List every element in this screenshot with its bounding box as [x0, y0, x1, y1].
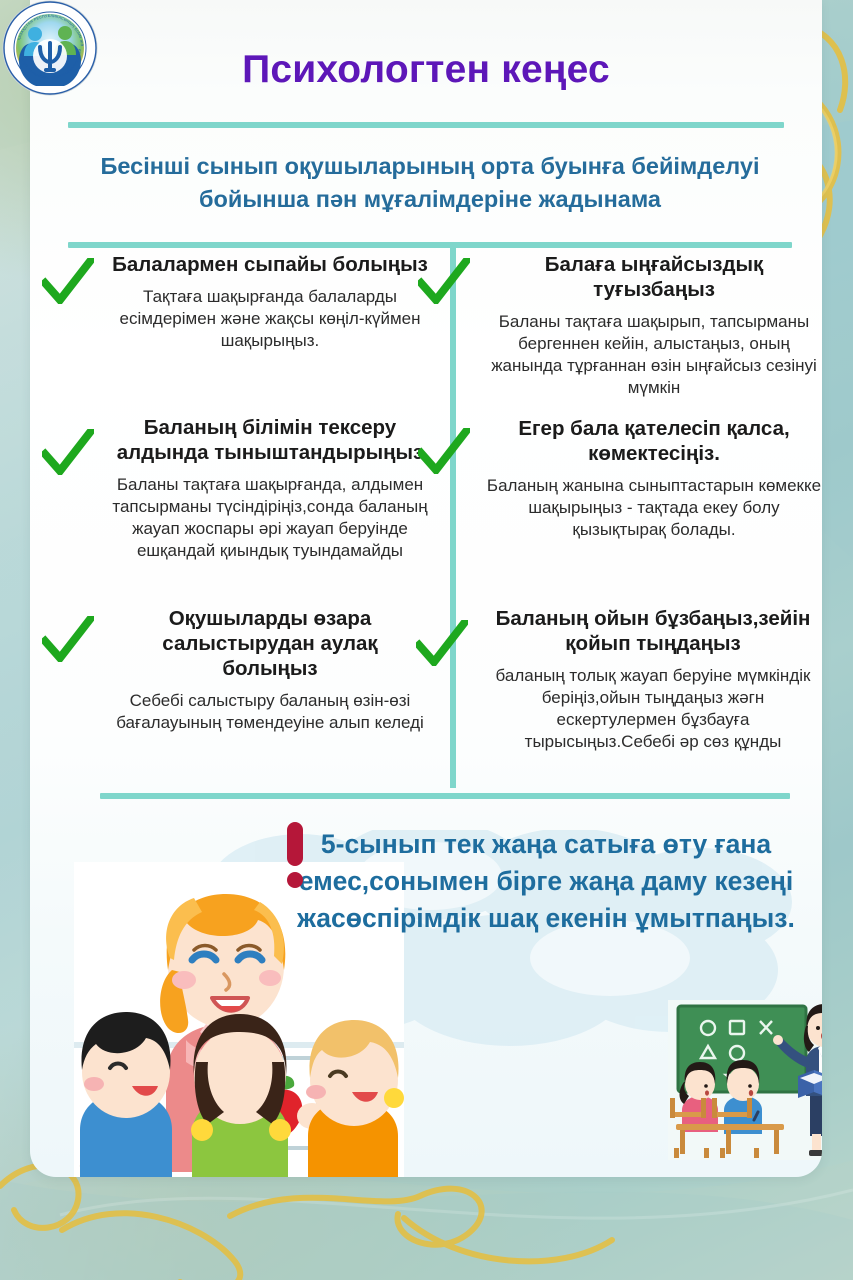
- green-check-icon: [418, 258, 470, 304]
- tip-item: Балаға ыңғайсыздық туғызбаңыз Баланы тақ…: [480, 252, 822, 399]
- tips-area: Балалармен сыпайы болыңыз Тақтаға шақырғ…: [30, 248, 822, 788]
- tip-item: Баланың білімін тексеру алдында тыныштан…: [98, 415, 438, 562]
- tip-body: Себебі салыстыру баланың өзін-өзі бағала…: [112, 690, 428, 734]
- green-check-icon: [42, 429, 94, 475]
- child-green-shirt: [191, 1014, 291, 1177]
- tip-body: Тақтаға шақырғанда балаларды есімдерімен…: [112, 286, 428, 352]
- tip-item: Егер бала қателесіп қалса, көмектесіңіз.…: [480, 416, 822, 541]
- page-subtitle: Бесінші сынып оқушыларының орта буынға б…: [90, 150, 770, 217]
- tip-item: Баланың ойын бұзбаңыз,зейін қойып тыңдаң…: [478, 606, 822, 753]
- tip-item: Оқушыларды өзара салыстырудан аулақ болы…: [108, 606, 428, 734]
- poster-root: Психологтен кеңес Бесінші сынып оқушылар…: [0, 0, 853, 1280]
- tip-heading: Оқушыларды өзара салыстырудан аулақ болы…: [112, 606, 428, 681]
- tip-heading: Баланың ойын бұзбаңыз,зейін қойып тыңдаң…: [482, 606, 822, 656]
- tip-heading: Балалармен сыпайы болыңыз: [112, 252, 428, 277]
- tip-body: Баланы тақтаға шақырып, тапсырманы берге…: [484, 311, 822, 399]
- tip-body: баланың толық жауап беруіне мүмкіндік бе…: [482, 665, 822, 753]
- tip-body: Баланың жанына сыныптастарын көмекке шақ…: [484, 475, 822, 541]
- red-exclamation-icon: [282, 822, 308, 888]
- tip-heading: Баланың білімін тексеру алдында тыныштан…: [102, 415, 438, 465]
- green-check-icon: [418, 428, 470, 474]
- divider-bottom: [100, 793, 790, 799]
- tip-body: Баланы тақтаға шақырғанда, алдымен тапсы…: [102, 474, 438, 562]
- green-check-icon: [416, 620, 468, 666]
- green-check-icon: [42, 258, 94, 304]
- psychology-service-emblem: ҚАЗАҚСТАН РЕСПУБЛИКАСЫНЫҢ БІЛІМ ЖӘНЕ ҒЫЛ…: [2, 0, 98, 96]
- callout-text: 5-сынып тек жаңа сатыға өту ғана емес,со…: [258, 826, 822, 937]
- tip-heading: Егер бала қателесіп қалса, көмектесіңіз.: [484, 416, 822, 466]
- page-title: Психологтен кеңес: [30, 48, 822, 92]
- child-blue-shirt: [80, 1012, 172, 1177]
- green-check-icon: [42, 616, 94, 662]
- teacher-at-chalkboard-with-pupils: [668, 1000, 822, 1160]
- tip-item: Балалармен сыпайы болыңыз Тақтаға шақырғ…: [108, 252, 428, 352]
- child-orange-shirt: [306, 1020, 404, 1177]
- tip-heading: Балаға ыңғайсыздық туғызбаңыз: [484, 252, 822, 302]
- content-card: Психологтен кеңес Бесінші сынып оқушылар…: [30, 0, 822, 1177]
- divider-top: [68, 122, 784, 128]
